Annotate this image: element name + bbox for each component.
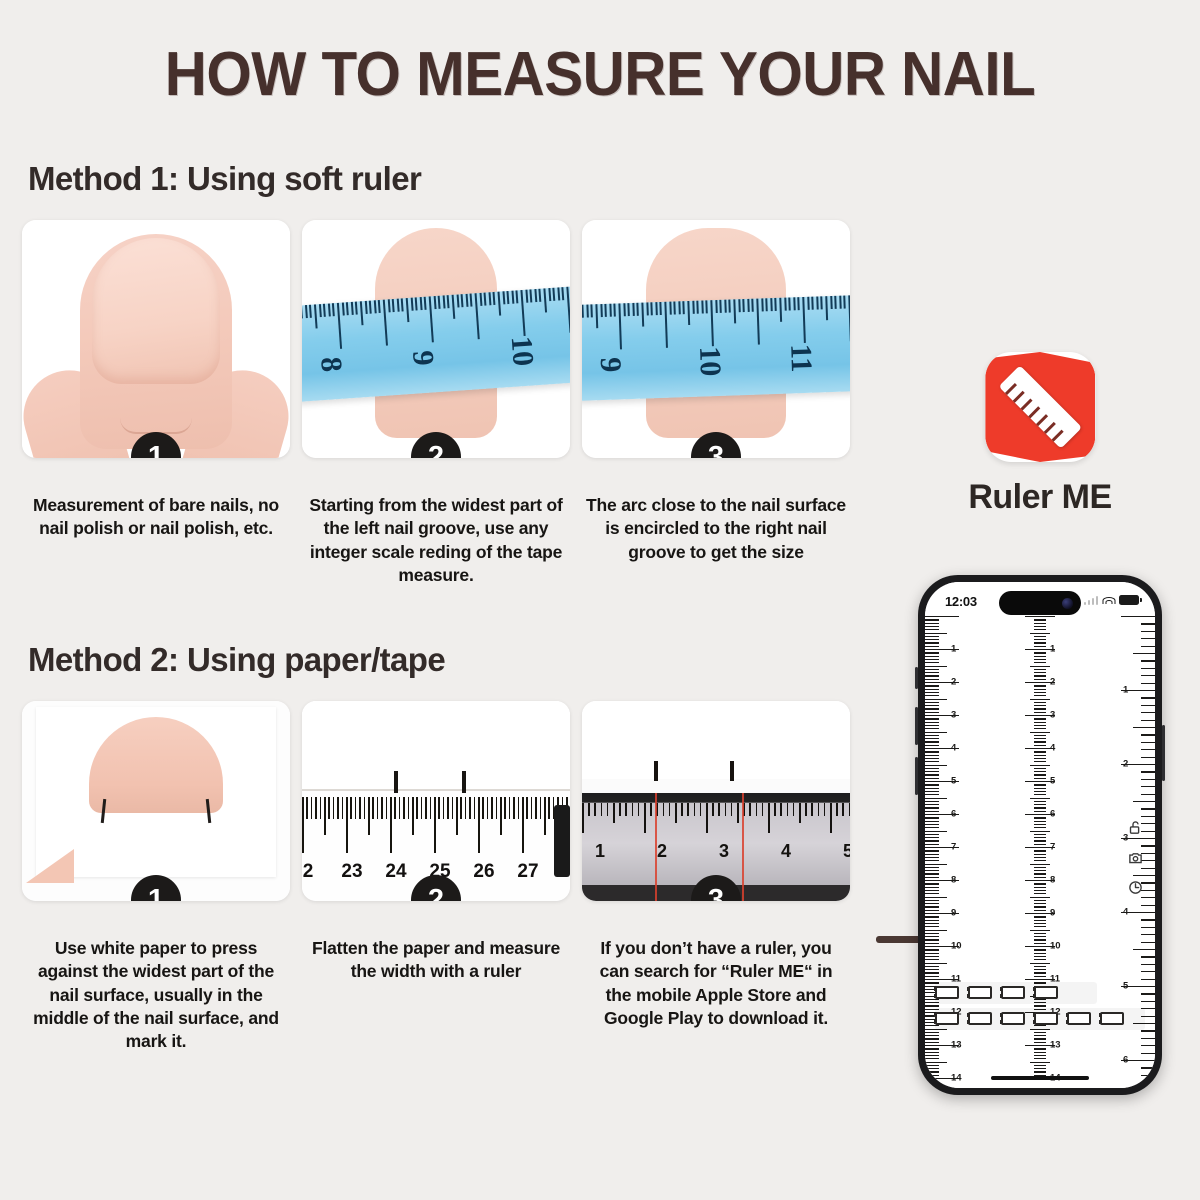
object-edge (554, 805, 570, 877)
method-1-heading: Method 1: Using soft ruler (28, 160, 880, 198)
paper-edge-line (302, 789, 570, 791)
step-card-m1-3: 91011 3 The arc close to the nail surfac… (582, 220, 850, 587)
wifi-icon (1102, 595, 1115, 605)
step-card-m2-3: 12345 3 If you don’t have a ruler, you c… (582, 701, 850, 1053)
finger-shape (80, 234, 232, 449)
app-branding: Ruler ME (968, 352, 1111, 517)
phone-screen[interactable]: 1234567891011121314 1234567891011121314 … (925, 582, 1155, 1088)
tape-measure-on-thumb-photo: 8910 2 (302, 220, 570, 458)
step-caption: Starting from the widest part of the lef… (302, 494, 570, 587)
status-bar-indicators (1084, 595, 1140, 605)
volume-down-button[interactable] (915, 757, 918, 795)
app-promo-panel: Ruler ME 1234567891011121314 12345678910… (880, 0, 1200, 1200)
power-button[interactable] (1162, 725, 1165, 781)
nail-chip[interactable] (1034, 1012, 1058, 1025)
tape-measure-wrapped-photo: 91011 3 (582, 220, 850, 458)
tape-illustration: 8910 (302, 220, 570, 458)
ruler-tick-marks (582, 803, 850, 835)
tape-measure-strip: 8910 (302, 286, 570, 402)
nail-chip[interactable] (1001, 1012, 1025, 1025)
bare-thumbnail-photo: 1 (22, 220, 290, 458)
nail-chip[interactable] (935, 986, 959, 999)
measurement-chip-row-2 (935, 1012, 1145, 1025)
nail-chip[interactable] (968, 986, 992, 999)
step-caption: Use white paper to press against the wid… (22, 937, 290, 1053)
tape-measure-strip: 91011 (582, 295, 850, 401)
home-indicator-bar[interactable] (991, 1076, 1089, 1081)
camera-icon[interactable] (1128, 850, 1143, 865)
paper-sheet (302, 701, 570, 789)
measurement-chip-row-1 (935, 986, 1145, 999)
pen-mark-left (394, 771, 398, 793)
tape-number-labels: 8910 (302, 286, 570, 402)
nail-chip[interactable] (968, 1012, 992, 1025)
nail-chip[interactable] (1034, 986, 1058, 999)
step-card-m1-2: 8910 2 Starting from the widest part of … (302, 220, 570, 587)
nail-chip[interactable] (935, 1012, 959, 1025)
step-caption: Flatten the paper and measure the width … (302, 937, 570, 984)
red-alignment-line-left (655, 793, 657, 901)
nail-chip[interactable] (1001, 986, 1025, 999)
finger-corner-shape (26, 849, 74, 883)
phone-mockup: 1234567891011121314 1234567891011121314 … (918, 575, 1162, 1095)
app-name-label: Ruler ME (968, 478, 1111, 517)
front-camera-icon (1062, 598, 1073, 609)
nail-chip[interactable] (1067, 1012, 1091, 1025)
volume-up-button[interactable] (915, 707, 918, 745)
ruler-tick-marks (302, 797, 570, 857)
tool-icon-group (1128, 820, 1143, 895)
nail-pressed-on-paper-photo: 1 (22, 701, 290, 901)
cellular-signal-icon (1084, 595, 1099, 605)
battery-icon (1119, 595, 1139, 605)
pen-mark-right (462, 771, 466, 793)
step-card-m1-1: 1 Measurement of bare nails, no nail pol… (22, 220, 290, 587)
timer-icon[interactable] (1128, 880, 1143, 895)
step-card-m2-1: 1 Use white paper to press against the w… (22, 701, 290, 1053)
methods-container: Method 1: Using soft ruler 1 Measurement… (0, 160, 880, 1200)
paper-illustration (22, 701, 290, 901)
unlock-icon[interactable] (1128, 820, 1143, 835)
status-bar-time: 12:03 (945, 594, 977, 609)
silent-switch[interactable] (915, 667, 918, 689)
thumbnail-illustration (22, 220, 290, 458)
ruler-app-icon[interactable] (985, 352, 1095, 462)
nail-chip[interactable] (1100, 1012, 1124, 1025)
method-2-steps-row: 1 Use white paper to press against the w… (22, 701, 880, 1053)
ruler-measure-screen[interactable]: 1234567891011121314 1234567891011121314 … (925, 582, 1155, 1088)
ruler-illustration: 22324252627 (302, 701, 570, 901)
paper-ruler-photo: 22324252627 2 (302, 701, 570, 901)
method-1-steps-row: 1 Measurement of bare nails, no nail pol… (22, 220, 880, 587)
step-caption: The arc close to the nail surface is enc… (582, 494, 850, 564)
red-alignment-line-right (742, 793, 744, 901)
pen-mark-right (730, 761, 734, 781)
step-card-m2-2: 22324252627 2 Flatten the paper and meas… (302, 701, 570, 1053)
phone-as-ruler-photo: 12345 3 (582, 701, 850, 901)
tape-illustration: 91011 (582, 220, 850, 458)
pen-mark-left (654, 761, 658, 781)
step-caption: Measurement of bare nails, no nail polis… (22, 494, 290, 541)
nail-plate-shape (92, 238, 220, 384)
dynamic-island (999, 591, 1081, 615)
tape-number-labels: 91011 (582, 295, 850, 401)
phone-ruler-illustration: 12345 (582, 701, 850, 901)
paper-sheet (582, 701, 850, 779)
method-2-heading: Method 2: Using paper/tape (28, 641, 880, 679)
step-caption: If you don’t have a ruler, you can searc… (582, 937, 850, 1030)
